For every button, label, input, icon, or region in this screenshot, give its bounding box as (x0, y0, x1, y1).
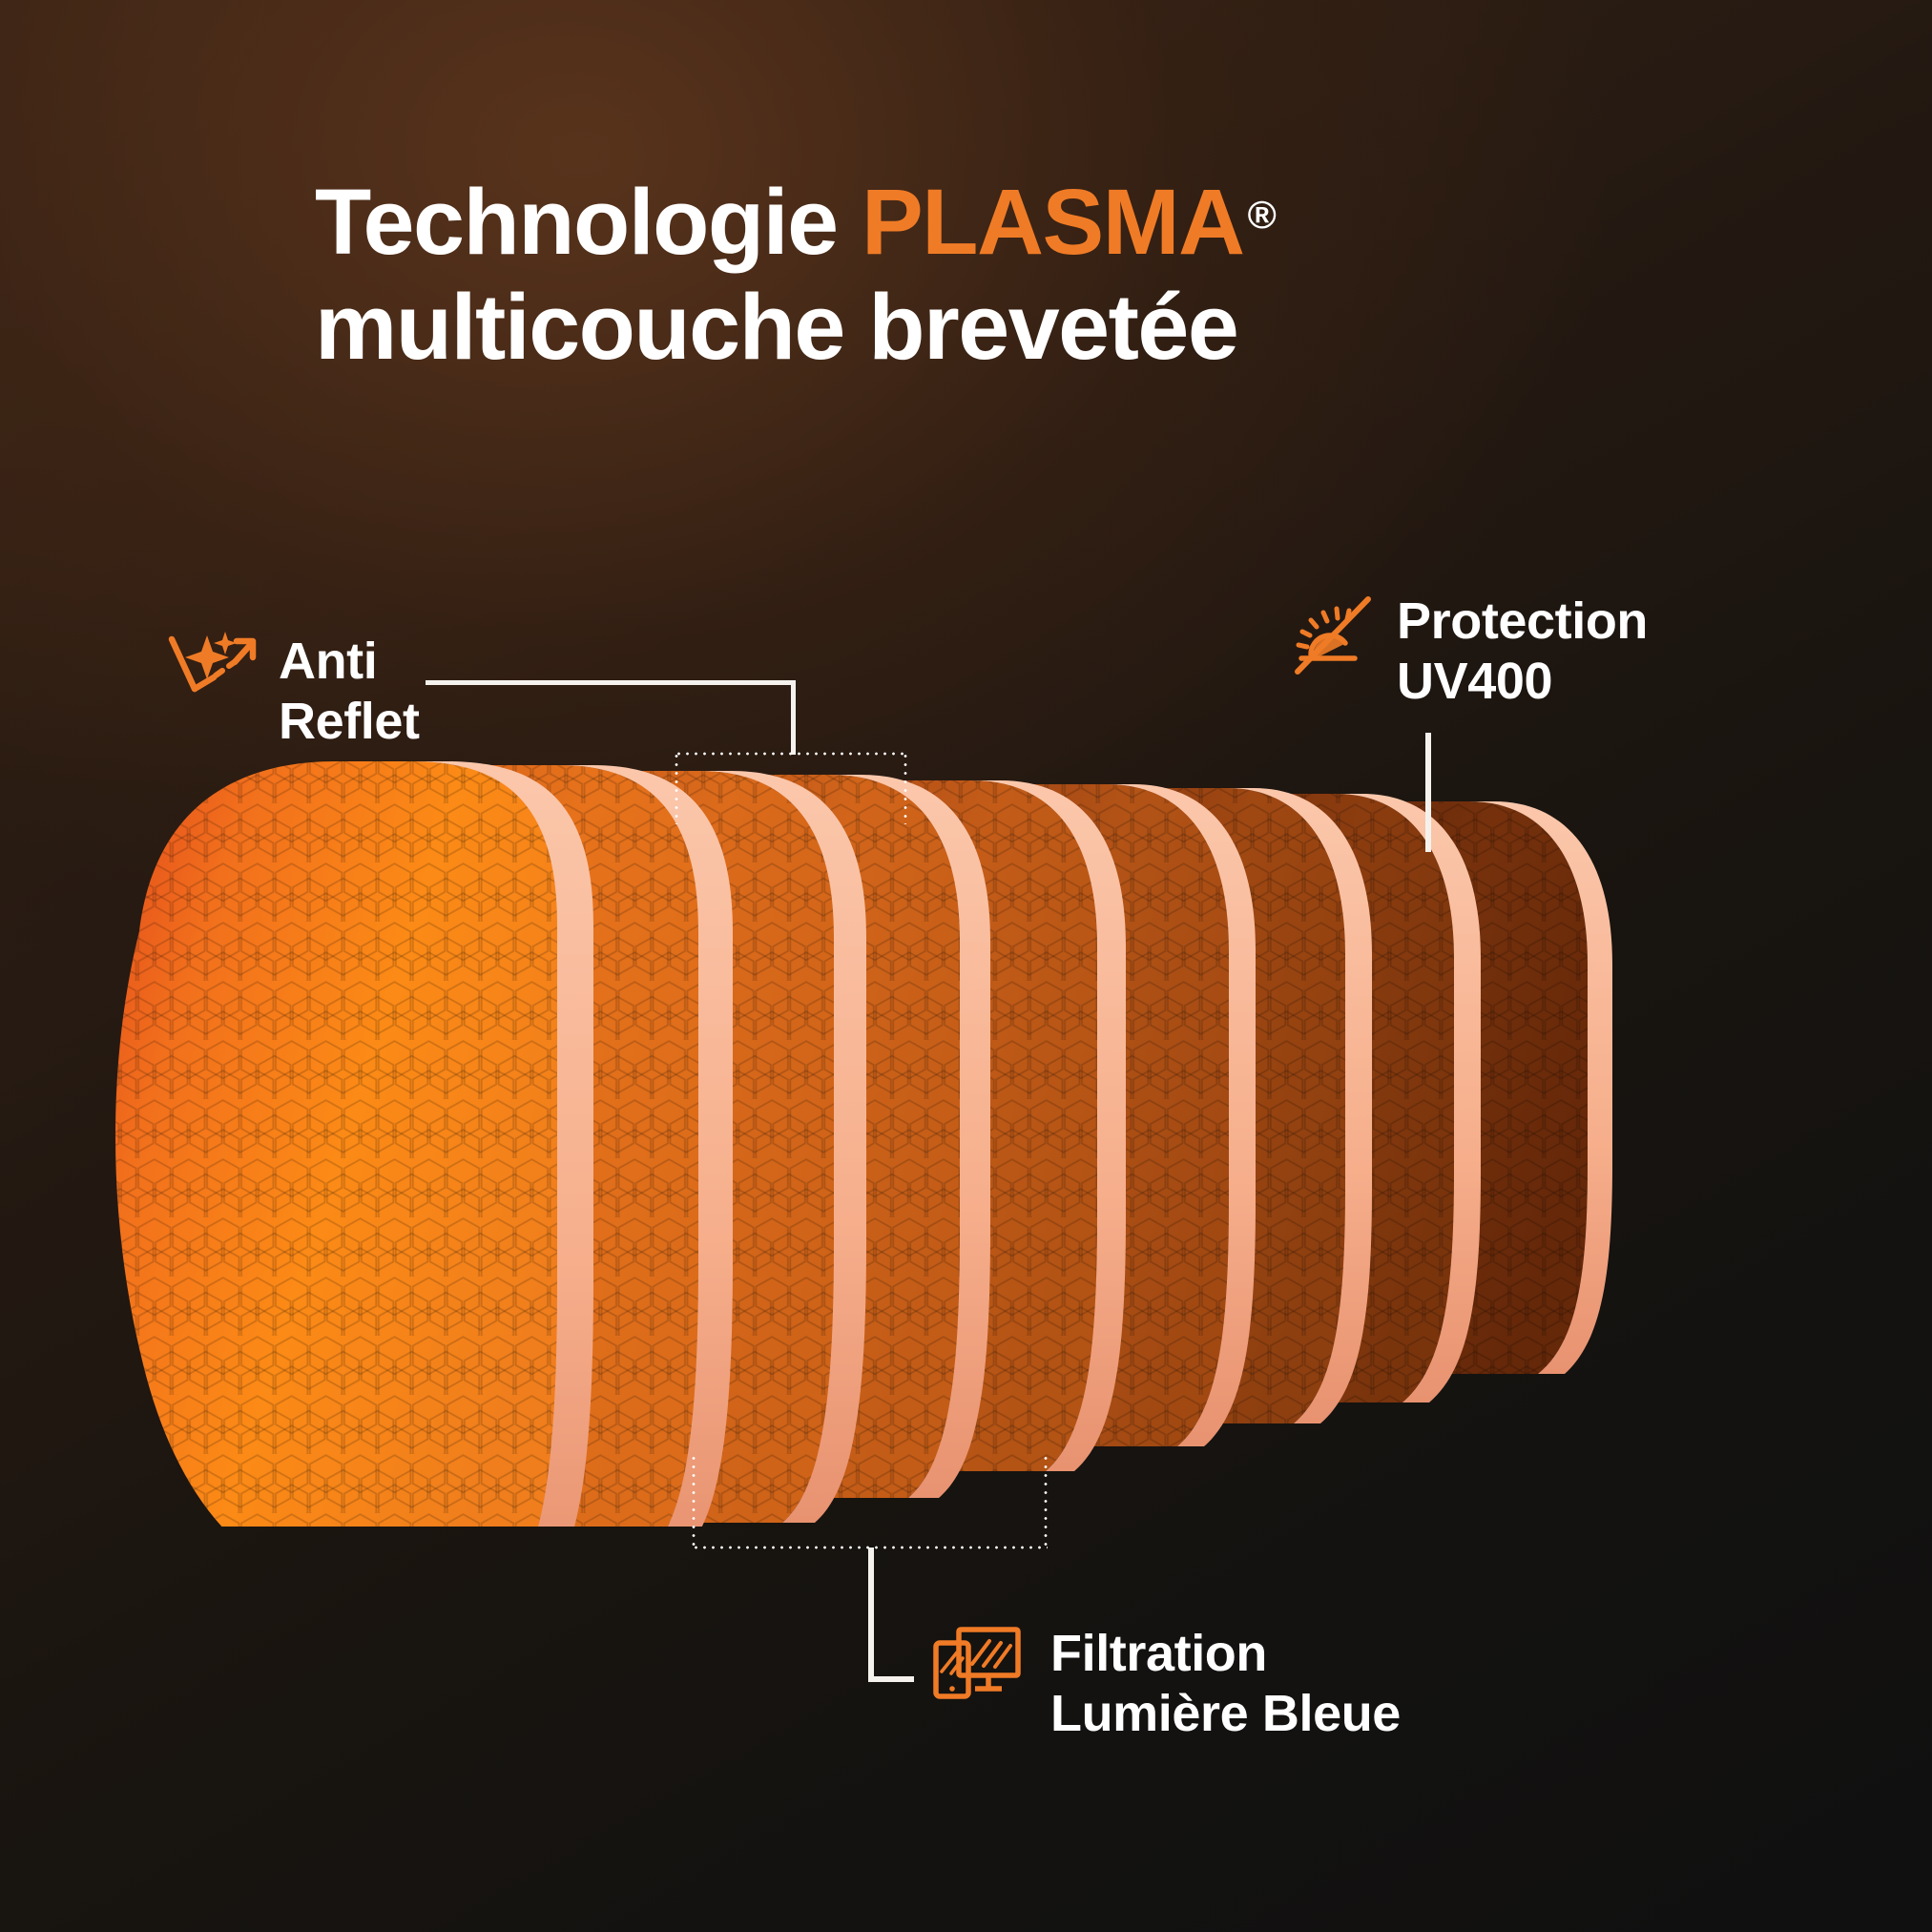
connector-anti-reflet-horizontal (426, 680, 796, 685)
bracket-anti-reflet-left-tick (675, 752, 678, 824)
callout-blue-light: Filtration Lumière Bleue (930, 1622, 1401, 1744)
callout-blue-light-label: Filtration Lumière Bleue (1050, 1622, 1401, 1744)
bracket-anti-reflet-right-tick (904, 752, 907, 824)
multilayer-lens-stack-diagram (0, 744, 1932, 1527)
bracket-anti-reflet-top (675, 752, 907, 756)
poster-canvas: Technologie PLASMA® multicouche brevetée (0, 0, 1932, 1932)
callout-anti-reflet-label: Anti Reflet (279, 630, 420, 752)
callout-uv400: Protection UV400 (1292, 590, 1648, 712)
title-line-1: Technologie PLASMA® (315, 170, 1670, 275)
connector-uv400-vertical (1425, 733, 1431, 852)
sun-uv-block-icon (1292, 590, 1376, 677)
callout-anti-reflet: Anti Reflet (166, 630, 420, 752)
lens-stack-svg (0, 744, 1932, 1527)
title-prefix: Technologie (315, 170, 862, 274)
lens-layer-1 (115, 761, 593, 1527)
bracket-blue-light-left-tick (692, 1454, 696, 1549)
lens-layers (115, 761, 1612, 1527)
title-brand-plasma: PLASMA (862, 170, 1244, 274)
screens-blue-light-icon (930, 1622, 1029, 1710)
bracket-blue-light-right-tick (1044, 1454, 1048, 1549)
connector-blue-light-vertical (868, 1548, 874, 1681)
callout-uv400-label: Protection UV400 (1397, 590, 1648, 712)
title-line-2: multicouche brevetée (315, 275, 1670, 380)
page-title: Technologie PLASMA® multicouche brevetée (315, 170, 1670, 379)
registered-trademark-icon: ® (1248, 196, 1276, 235)
connector-anti-reflet-vertical (791, 680, 796, 755)
connector-blue-light-horizontal (868, 1676, 914, 1682)
anti-reflection-icon (166, 630, 258, 704)
